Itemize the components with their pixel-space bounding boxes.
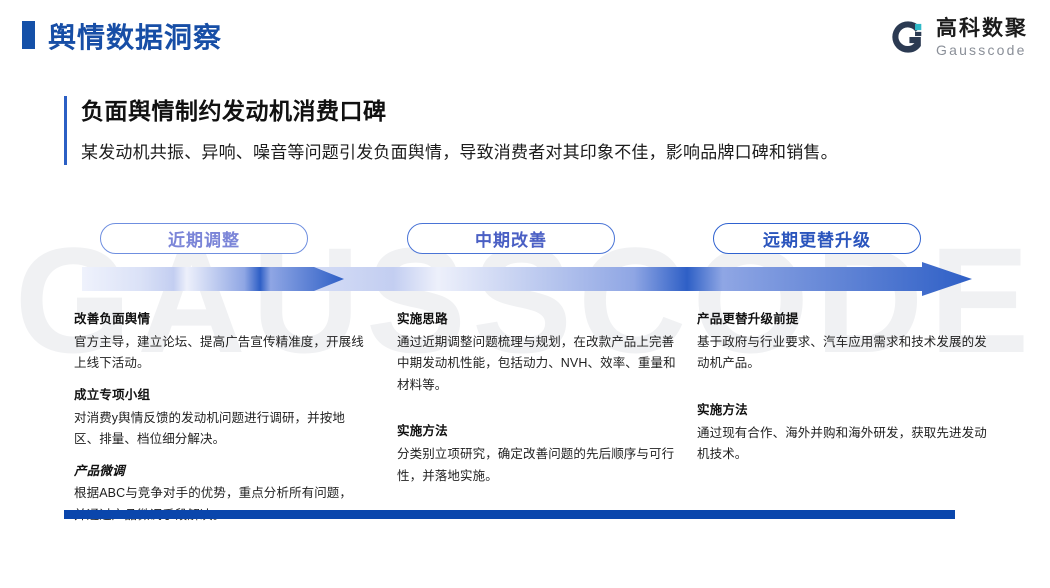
- detail-heading: 产品更替升级前提: [697, 310, 987, 329]
- column-long-term: 产品更替升级前提 基于政府与行业要求、汽车应用需求和技术发展的发动机产品。 实施…: [697, 310, 987, 477]
- gausscode-logo-icon: [889, 18, 927, 56]
- detail-body: 基于政府与行业要求、汽车应用需求和技术发展的发动机产品。: [697, 332, 987, 375]
- stage-pill-label: 近期调整: [168, 226, 240, 251]
- detail-block: 成立专项小组 对消费y舆情反馈的发动机问题进行调研，并按地区、排量、档位细分解决…: [74, 386, 364, 451]
- detail-heading: 实施方法: [397, 422, 677, 441]
- detail-body: 对消费y舆情反馈的发动机问题进行调研，并按地区、排量、档位细分解决。: [74, 408, 364, 451]
- headline: 负面舆情制约发动机消费口碑: [81, 96, 964, 127]
- detail-block: 改善负面舆情 官方主导，建立论坛、提高广告宣传精准度，开展线上线下活动。: [74, 310, 364, 375]
- logo-name-cn: 高科数聚: [936, 18, 1028, 39]
- footer-bar: [64, 510, 955, 519]
- stage-pill-near-term[interactable]: 近期调整: [100, 223, 308, 254]
- slide-header: 舆情数据洞察 高科数聚 Gausscode: [0, 0, 1050, 68]
- stage-pill-label: 中期改善: [475, 226, 547, 251]
- detail-block: 实施方法 分类别立项研究，确定改善问题的先后顺序与可行性，并落地实施。: [397, 422, 677, 487]
- stage-pill-mid-term[interactable]: 中期改善: [407, 223, 615, 254]
- detail-block: 产品更替升级前提 基于政府与行业要求、汽车应用需求和技术发展的发动机产品。: [697, 310, 987, 375]
- detail-body: 官方主导，建立论坛、提高广告宣传精准度，开展线上线下活动。: [74, 332, 364, 375]
- stage-pill-label: 远期更替升级: [763, 226, 871, 251]
- header-bullet-icon: [22, 21, 35, 49]
- slide: GAUSSCODE 舆情数据洞察 高科数聚 Gausscode 负面舆情制约发动…: [0, 0, 1050, 588]
- subtitle: 某发动机共振、异响、噪音等问题引发负面舆情，导致消费者对其印象不佳，影响品牌口碑…: [81, 141, 964, 165]
- detail-block: 实施方法 通过现有合作、海外并购和海外研发，获取先进发动机技术。: [697, 401, 987, 466]
- stage-pill-long-term[interactable]: 远期更替升级: [713, 223, 921, 254]
- detail-heading: 成立专项小组: [74, 386, 364, 405]
- detail-body: 分类别立项研究，确定改善问题的先后顺序与可行性，并落地实施。: [397, 444, 677, 487]
- column-mid-term: 实施思路 通过近期调整问题梳理与规划，在改款产品上完善中期发动机性能，包括动力、…: [397, 310, 677, 498]
- detail-body: 根据ABC与竞争对手的优势，重点分析所有问题，并通过产品微调手段解决。: [74, 483, 364, 526]
- detail-block: 实施思路 通过近期调整问题梳理与规划，在改款产品上完善中期发动机性能，包括动力、…: [397, 310, 677, 396]
- detail-heading: 改善负面舆情: [74, 310, 364, 329]
- detail-heading: 实施思路: [397, 310, 677, 329]
- detail-heading: 产品微调: [74, 462, 364, 481]
- title-block: 负面舆情制约发动机消费口碑 某发动机共振、异响、噪音等问题引发负面舆情，导致消费…: [64, 96, 964, 165]
- brand-logo: 高科数聚 Gausscode: [889, 14, 1028, 60]
- detail-body: 通过现有合作、海外并购和海外研发，获取先进发动机技术。: [697, 423, 987, 466]
- detail-heading: 实施方法: [697, 401, 987, 420]
- column-near-term: 改善负面舆情 官方主导，建立论坛、提高广告宣传精准度，开展线上线下活动。 成立专…: [74, 310, 364, 537]
- detail-body: 通过近期调整问题梳理与规划，在改款产品上完善中期发动机性能，包括动力、NVH、效…: [397, 332, 677, 397]
- page-title: 舆情数据洞察: [48, 16, 222, 56]
- timeline-arrow: [82, 262, 972, 296]
- logo-name-en: Gausscode: [936, 43, 1028, 57]
- logo-wordmark: 高科数聚 Gausscode: [936, 18, 1028, 57]
